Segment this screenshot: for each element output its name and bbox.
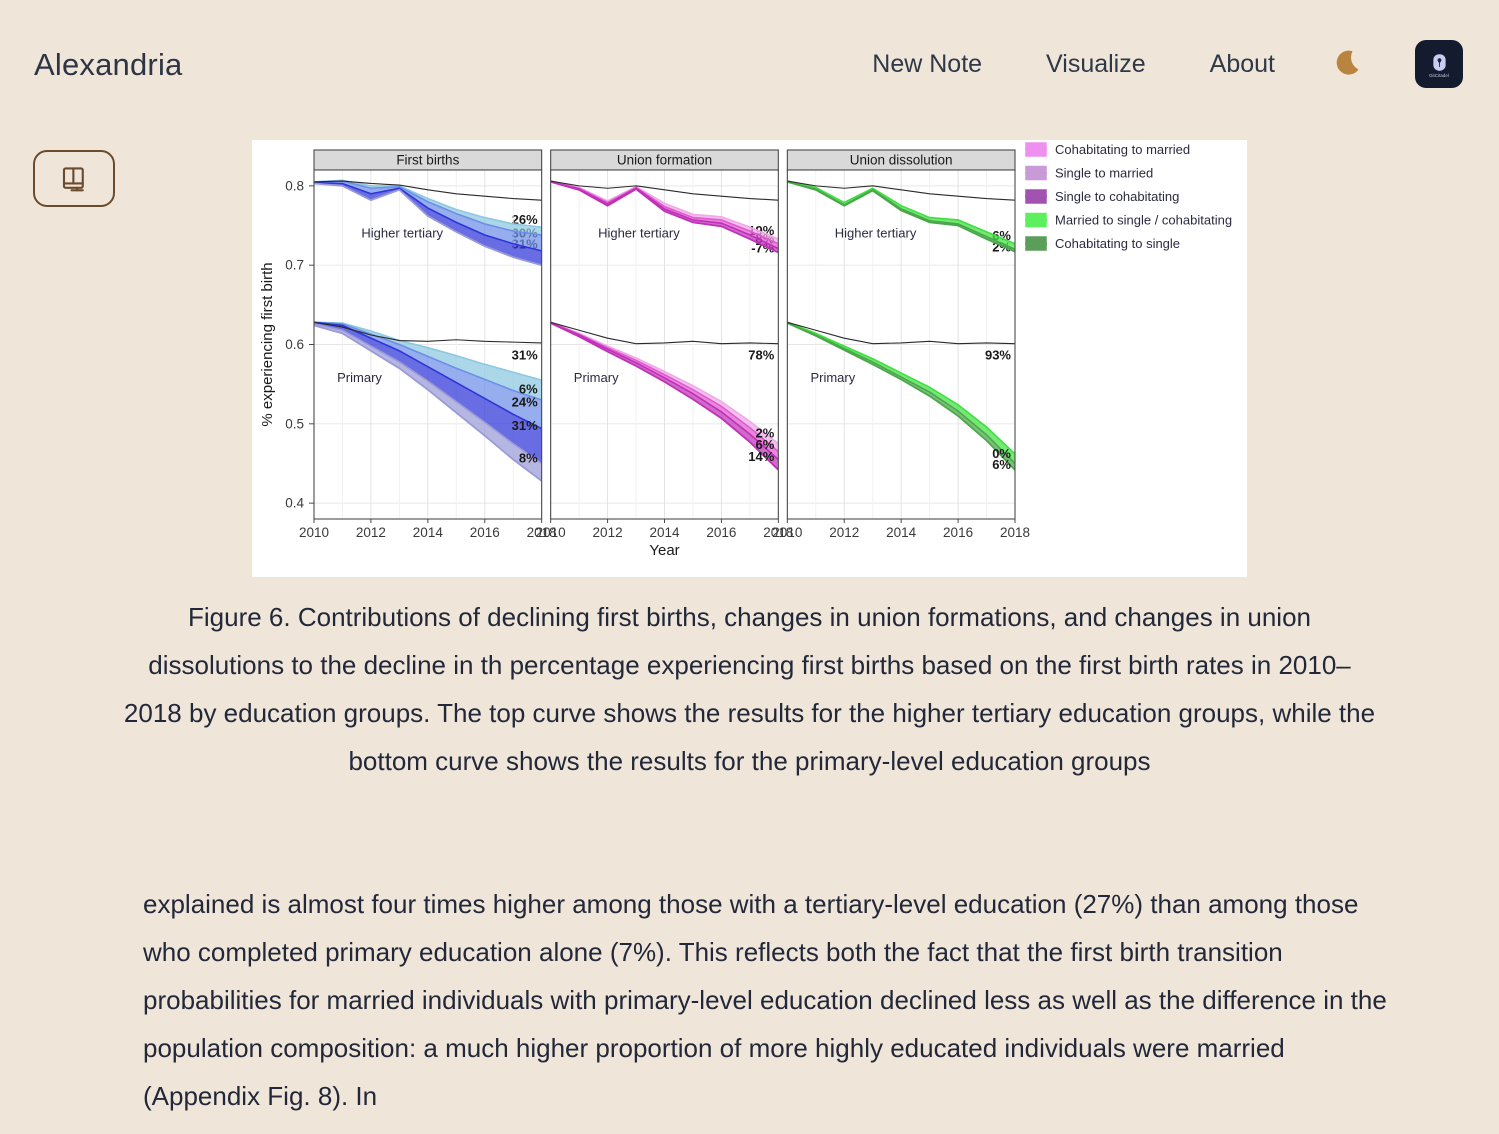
x-tick-label: 2016: [706, 525, 736, 540]
y-tick-label: 0.7: [285, 258, 304, 273]
x-tick-label: 2012: [829, 525, 859, 540]
x-tick-label: 2016: [943, 525, 973, 540]
gitcitadel-logo[interactable]: GitCitadel: [1415, 40, 1463, 88]
contribution-value-label: 78%: [748, 348, 774, 363]
y-tick-label: 0.4: [285, 496, 304, 511]
x-axis-title: Year: [649, 542, 679, 559]
x-tick-label: 2012: [356, 525, 386, 540]
x-tick-label: 2010: [772, 525, 802, 540]
x-tick-label: 2018: [1000, 525, 1030, 540]
education-group-label: Higher tertiary: [598, 225, 680, 240]
education-group-label: Primary: [810, 370, 855, 385]
faceted-line-chart: 0.40.50.60.70.8% experiencing first birt…: [252, 140, 1247, 577]
figure-block: 0.40.50.60.70.8% experiencing first birt…: [0, 128, 1499, 785]
legend-label: Single to cohabitating: [1055, 189, 1179, 204]
x-tick-label: 2014: [886, 525, 917, 540]
figure-chart-image: 0.40.50.60.70.8% experiencing first birt…: [252, 140, 1247, 577]
app-header: Alexandria New Note Visualize About GitC…: [0, 0, 1499, 128]
panel-strip-label: Union formation: [617, 153, 712, 168]
legend-label: Cohabitating to single: [1055, 236, 1180, 251]
panel-strip-label: Union dissolution: [850, 153, 953, 168]
main-nav: New Note Visualize About GitCitadel: [872, 40, 1463, 88]
x-tick-label: 2016: [470, 525, 500, 540]
education-group-label: Higher tertiary: [835, 225, 917, 240]
panel-strip-label: First births: [396, 153, 459, 168]
education-group-label: Primary: [337, 370, 382, 385]
education-group-label: Primary: [574, 370, 619, 385]
legend-label: Single to married: [1055, 166, 1153, 181]
education-group-label: Higher tertiary: [361, 225, 443, 240]
x-tick-label: 2010: [536, 525, 566, 540]
nav-link-visualize[interactable]: Visualize: [1046, 44, 1146, 85]
x-tick-label: 2010: [299, 525, 329, 540]
app-root: Alexandria New Note Visualize About GitC…: [0, 0, 1499, 1134]
contribution-value-label: 14%: [748, 449, 774, 464]
contribution-value-label: 24%: [512, 394, 538, 409]
logo-text: GitCitadel: [1429, 74, 1449, 78]
nav-link-about[interactable]: About: [1210, 44, 1275, 85]
contribution-value-label: 6%: [992, 457, 1011, 472]
contribution-value-label: 8%: [519, 451, 538, 466]
contribution-value-label: 31%: [512, 348, 538, 363]
x-tick-label: 2014: [649, 525, 680, 540]
y-tick-label: 0.5: [285, 416, 304, 431]
app-title: Alexandria: [34, 49, 182, 80]
contribution-value-label: 31%: [512, 418, 538, 433]
legend-label: Married to single / cohabitating: [1055, 213, 1232, 228]
y-tick-label: 0.8: [285, 178, 304, 193]
y-axis-title: % experiencing first birth: [259, 262, 276, 426]
legend-label: Cohabitating to married: [1055, 142, 1190, 157]
nav-link-new-note[interactable]: New Note: [872, 44, 982, 85]
y-tick-label: 0.6: [285, 337, 304, 352]
figure-caption: Figure 6. Contributions of declining fir…: [120, 593, 1380, 785]
body-paragraph: explained is almost four times higher am…: [143, 880, 1393, 1120]
x-tick-label: 2014: [413, 525, 444, 540]
x-tick-label: 2012: [593, 525, 623, 540]
moon-icon[interactable]: [1327, 41, 1373, 87]
gitcitadel-helmet-icon: [1429, 52, 1450, 73]
contribution-value-label: 93%: [985, 348, 1011, 363]
